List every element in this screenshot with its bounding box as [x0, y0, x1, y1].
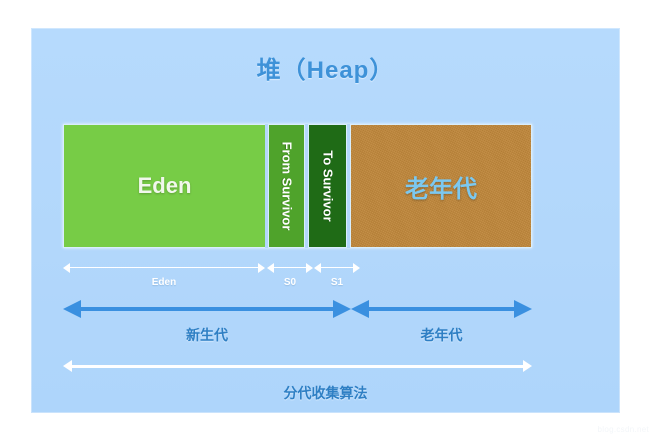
arrow-shaft [70, 365, 525, 368]
page-title: 堆（Heap） [31, 50, 620, 85]
generation-arrow-old [351, 300, 532, 318]
memory-block-from-survivor[interactable]: From Survivor [268, 124, 305, 248]
arrow-head-right-icon [514, 300, 532, 318]
measure-arrow-s0 [267, 262, 313, 273]
memory-block-from-survivor-label: From Survivor [279, 142, 294, 231]
memory-block-eden[interactable]: Eden [63, 124, 265, 248]
arrow-shaft [367, 307, 516, 311]
measure-label-eden: Eden [63, 277, 265, 288]
memory-block-old-generation[interactable]: 老年代 [350, 124, 532, 248]
arrow-shaft [68, 267, 260, 268]
arrow-shaft [272, 267, 308, 268]
generation-label-young: 新生代 [63, 325, 351, 345]
arrow-head-right-icon [258, 263, 265, 273]
measure-arrow-s1 [314, 262, 360, 273]
memory-block-old-generation-label: 老年代 [351, 125, 531, 247]
arrow-head-right-icon [523, 360, 532, 372]
arrow-head-right-icon [353, 263, 360, 273]
arrow-shaft [79, 307, 335, 311]
memory-layout-bar: Eden From Survivor To Survivor 老年代 [63, 124, 532, 248]
memory-block-to-survivor-label: To Survivor [320, 150, 335, 221]
arrow-head-right-icon [333, 300, 351, 318]
watermark: blog.csdn.net [598, 425, 650, 434]
arrow-shaft [319, 267, 355, 268]
memory-block-to-survivor[interactable]: To Survivor [308, 124, 347, 248]
arrow-head-right-icon [306, 263, 313, 273]
measure-label-s0: S0 [267, 277, 313, 288]
memory-block-eden-label: Eden [64, 125, 265, 247]
measure-label-s1: S1 [314, 277, 360, 288]
generation-label-old: 老年代 [351, 325, 532, 345]
heap-diagram-panel: 堆（Heap） Eden From Survivor To Survivor 老… [31, 28, 620, 413]
measure-arrow-eden [63, 262, 265, 273]
algorithm-span-arrow [63, 360, 532, 373]
algorithm-label: 分代收集算法 [31, 383, 620, 403]
generation-arrow-young [63, 300, 351, 318]
